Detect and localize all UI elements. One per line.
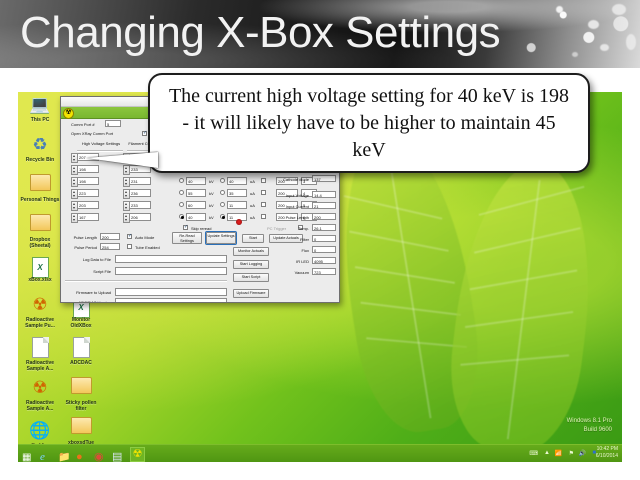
fil-input-3[interactable]: 231 bbox=[129, 177, 151, 185]
ua-radio-5[interactable] bbox=[220, 202, 225, 207]
skip-reread-label: Skip reread bbox=[191, 226, 211, 231]
callout-tail bbox=[86, 152, 158, 168]
pulse-length-input[interactable]: 200 bbox=[100, 233, 120, 240]
actual-value-input-current: 21 bbox=[312, 202, 336, 209]
comm-port-input[interactable]: 5 bbox=[105, 120, 121, 127]
ua-radio-3[interactable] bbox=[220, 178, 225, 183]
hv-input-3[interactable]: 198 bbox=[77, 177, 99, 185]
slide-root: Changing X-Box Settings 💻 This PC ♻ Recy… bbox=[0, 0, 640, 480]
kv-input-3[interactable]: 40 bbox=[186, 177, 206, 185]
update-settings-button[interactable]: Update Settings bbox=[206, 232, 236, 244]
high-voltage-settings-label: High Voltage Settings bbox=[79, 141, 123, 146]
windows-watermark-build: Build 9600 bbox=[584, 426, 612, 434]
kv-input-4[interactable]: 55 bbox=[186, 189, 206, 197]
kv-radio-5[interactable] bbox=[179, 202, 184, 207]
hv-input-5[interactable]: 203 bbox=[77, 201, 99, 209]
skip-reread-checkbox[interactable] bbox=[183, 225, 188, 230]
internet-explorer-icon[interactable]: e bbox=[40, 447, 53, 460]
ua-radio-6[interactable] bbox=[220, 214, 225, 219]
desktop-icon-radioactive-sample-a[interactable]: Radioactive Sample A... bbox=[20, 337, 60, 372]
reread-settings-button[interactable]: Re-Read Settings bbox=[172, 232, 202, 244]
open-xray-comm-port-label: Open XRay Comm Port bbox=[71, 131, 113, 136]
kv-radio-4[interactable] bbox=[179, 190, 184, 195]
firmware-label: Firmware to Upload bbox=[67, 290, 111, 295]
document-icon bbox=[70, 337, 92, 359]
kv-unit-4: kV bbox=[209, 191, 214, 196]
actual-value-cathode-diode: 137 bbox=[312, 175, 336, 182]
keyboard-icon[interactable]: ⌨ bbox=[529, 450, 538, 457]
tube-enabled-label: Tube Enabled bbox=[135, 245, 160, 250]
desktop-icon-label: Radioactive Sample A... bbox=[20, 400, 60, 412]
callout-text: The current high voltage setting for 40 … bbox=[166, 83, 572, 164]
firefox-icon[interactable]: ● bbox=[76, 447, 89, 460]
tube-enabled-checkbox[interactable] bbox=[127, 244, 132, 249]
open-xray-comm-port-checkbox[interactable] bbox=[142, 131, 147, 136]
ua-input-5[interactable]: 11 bbox=[227, 201, 247, 209]
actual-value-ir-led: 4095 bbox=[312, 257, 336, 264]
desktop-icon-label: Radioactive Sample Pu... bbox=[20, 317, 60, 329]
ua-unit-4: uA bbox=[250, 191, 255, 196]
status-led bbox=[236, 219, 242, 225]
desktop-icon-dropbox-sheetal[interactable]: Dropbox (Sheetal) bbox=[20, 214, 60, 249]
network-icon[interactable]: 📶 bbox=[555, 450, 562, 457]
desktop-icon-personal-things[interactable]: Personal Things bbox=[20, 174, 60, 203]
kv-unit-5: kV bbox=[209, 203, 214, 208]
desktop-icon-xbox-xlsx[interactable]: X xBox.xlsx bbox=[20, 254, 60, 283]
ua-input-3[interactable]: 40 bbox=[227, 177, 247, 185]
kv-radio-3[interactable] bbox=[179, 178, 184, 183]
fil-input-6[interactable]: 206 bbox=[129, 213, 151, 221]
actual-value-pulse-length: 200 bbox=[312, 213, 336, 220]
actual-label-temp: Temp. bbox=[257, 226, 309, 231]
pulse-period-label: Pulse Period bbox=[65, 245, 97, 250]
script-file-label: Script File bbox=[67, 269, 111, 274]
folder-icon bbox=[70, 417, 92, 439]
firmware-input[interactable] bbox=[115, 288, 227, 296]
title-banner: Changing X-Box Settings bbox=[0, 0, 640, 68]
actual-label-pulse-length: Pulse Length bbox=[257, 215, 309, 220]
excel-icon: X bbox=[29, 254, 51, 276]
actual-label-input-current: Input Current bbox=[257, 204, 309, 209]
desktop-icon-label: Sticky pollen filter bbox=[61, 400, 101, 412]
desktop-icon-sticky-pollen-filter[interactable]: Sticky pollen filter bbox=[61, 377, 101, 412]
actual-value-filter: 0 bbox=[312, 235, 336, 242]
upload-firmware-button[interactable]: Upload Firmware bbox=[233, 289, 269, 298]
radiation-icon: ☢ bbox=[63, 108, 74, 119]
desktop-icon-label: Radioactive Sample A... bbox=[20, 360, 60, 372]
actual-value-vacuum: 723 bbox=[312, 268, 336, 275]
this-pc-icon: 💻 bbox=[29, 94, 51, 116]
xray-app-icon[interactable]: ☢ bbox=[130, 447, 145, 462]
auto-mode-checkbox[interactable] bbox=[127, 234, 132, 239]
script-file-input[interactable] bbox=[115, 267, 227, 275]
clock-time: 10:42 PM bbox=[596, 446, 618, 453]
desktop-icon-recycle-bin[interactable]: ♻ Recycle Bin bbox=[20, 134, 60, 163]
ua-input-4[interactable]: 35 bbox=[227, 189, 247, 197]
ua-unit-6: uA bbox=[250, 215, 255, 220]
clock[interactable]: 10:42 PM 6/10/2014 bbox=[596, 446, 618, 460]
comm-port-label: Comm Port # bbox=[71, 122, 95, 127]
pulse-period-input[interactable]: 254 bbox=[100, 243, 120, 250]
actual-label-input-voltage: Input Voltage bbox=[257, 193, 309, 198]
actual-label-vacuum: Vacuum bbox=[257, 270, 309, 275]
show-hidden-icons-icon[interactable]: ▲ bbox=[544, 450, 550, 456]
adcdac-version-value bbox=[115, 298, 227, 303]
desktop-icon-label: Personal Things bbox=[20, 197, 60, 203]
desktop-icon-this-pc[interactable]: 💻 This PC bbox=[20, 94, 60, 123]
kv-input-6[interactable]: 40 bbox=[186, 213, 206, 221]
desktop-icon-label: xBox.xlsx bbox=[20, 277, 60, 283]
desktop-icon-label: This PC bbox=[20, 117, 60, 123]
file-explorer-icon[interactable]: 📁 bbox=[58, 447, 71, 460]
radiation-icon: ☢ bbox=[29, 377, 51, 399]
windows-watermark-edition: Windows 8.1 Pro bbox=[567, 417, 612, 425]
desktop-icon-label: Recycle Bin bbox=[20, 157, 60, 163]
action-center-icon[interactable]: ⚑ bbox=[569, 450, 574, 457]
page-title: Changing X-Box Settings bbox=[20, 1, 500, 65]
log-data-label: Log Data to File bbox=[67, 257, 111, 262]
kv-input-5[interactable]: 60 bbox=[186, 201, 206, 209]
log-data-input[interactable] bbox=[115, 255, 227, 263]
kv-unit-6: kV bbox=[209, 215, 214, 220]
hv-input-4[interactable]: 223 bbox=[77, 189, 99, 197]
leaf-decoration-right bbox=[441, 155, 605, 450]
ua-radio-4[interactable] bbox=[220, 190, 225, 195]
chrome-icon[interactable]: ◉ bbox=[94, 447, 107, 460]
taskbar[interactable]: ▦ e 📁 ● ◉ ▤ ☢ ⌨ ▲ 📶 ⚑ 🔊 ■ 10:42 PM 6/10/… bbox=[18, 444, 622, 462]
fil-input-5[interactable]: 233 bbox=[129, 201, 151, 209]
actual-label-cathode-diode: Cathode diode bbox=[257, 177, 309, 182]
radiation-icon: ☢ bbox=[29, 294, 51, 316]
recycle-bin-icon: ♻ bbox=[29, 134, 51, 156]
actual-label-ir-led: IR LED bbox=[257, 259, 309, 264]
actual-label-filter: Filter bbox=[257, 237, 309, 242]
desktop-icon-radioactive-sample-a2[interactable]: ☢ Radioactive Sample A... bbox=[20, 377, 60, 412]
clock-date: 6/10/2014 bbox=[596, 453, 618, 460]
desktop-icon-xboxsdtue[interactable]: xboxsdTue bbox=[61, 417, 101, 446]
desktop-icon-label: Monitor OldXBox bbox=[61, 317, 101, 329]
folder-icon bbox=[29, 214, 51, 236]
actual-label-flux: Flux bbox=[257, 248, 309, 253]
adcdac-version-label: ADC/DAC Version bbox=[67, 300, 111, 303]
fil-input-4[interactable]: 236 bbox=[129, 189, 151, 197]
kv-unit-3: kV bbox=[209, 179, 214, 184]
folder-icon bbox=[70, 377, 92, 399]
start-button[interactable]: ▦ bbox=[22, 447, 35, 460]
desktop-icon-label: Dropbox (Sheetal) bbox=[20, 237, 60, 249]
volume-icon[interactable]: 🔊 bbox=[579, 450, 586, 457]
pulse-length-label: Pulse Length bbox=[65, 235, 97, 240]
actual-value-input-voltage: 14.4 bbox=[312, 191, 336, 198]
desktop-icon-radioactive-sample-pu[interactable]: ☢ Radioactive Sample Pu... bbox=[20, 294, 60, 329]
folder-icon bbox=[29, 174, 51, 196]
ua-unit-3: uA bbox=[250, 179, 255, 184]
document-icon bbox=[29, 337, 51, 359]
auto-mode-label: Auto Mode bbox=[135, 235, 154, 240]
desktop-icon-label: ADCDAC bbox=[61, 360, 101, 366]
kv-radio-6[interactable] bbox=[179, 214, 184, 219]
actual-value-temp: 26.1 bbox=[312, 224, 336, 231]
desktop-icon-adcdac[interactable]: ADCDAC bbox=[61, 337, 101, 366]
actual-value-flux: 0 bbox=[312, 246, 336, 253]
hv-input-6[interactable]: 167 bbox=[77, 213, 99, 221]
globe-icon: 🌐 bbox=[29, 420, 51, 442]
app-window-icon[interactable]: ▤ bbox=[112, 447, 125, 460]
callout-bubble: The current high voltage setting for 40 … bbox=[148, 73, 590, 173]
ua-unit-5: uA bbox=[250, 203, 255, 208]
